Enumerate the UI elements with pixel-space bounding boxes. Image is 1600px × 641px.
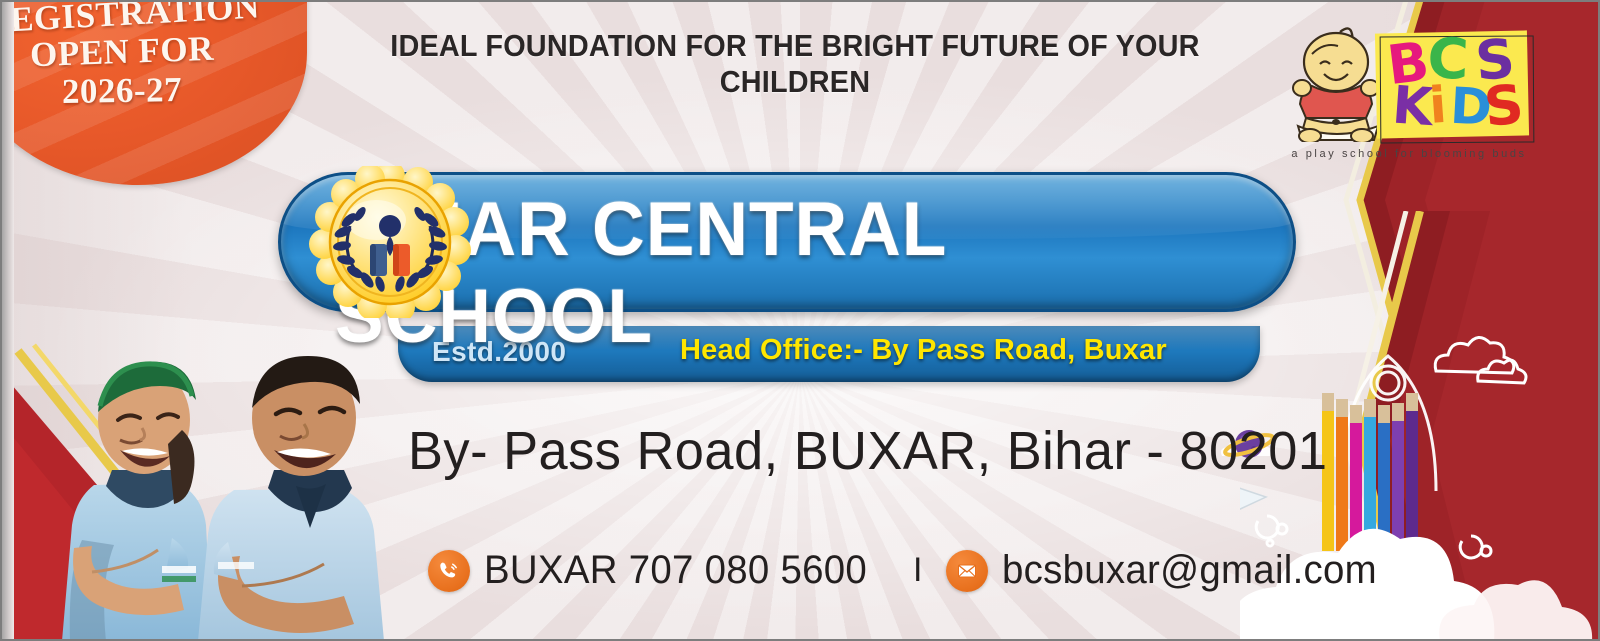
envelope-icon xyxy=(946,550,988,592)
email-address[interactable]: bcsbuxar@gmail.com xyxy=(1002,548,1377,593)
colored-pencils-icon xyxy=(1322,393,1418,551)
student-girl xyxy=(62,362,212,641)
registration-badge: REGISTRATION OPEN FOR 2026-27 xyxy=(0,0,307,185)
paper-plane-icon xyxy=(1240,487,1266,511)
logo-letter-i: i xyxy=(1428,80,1449,131)
address-line: By- Pass Road, BUXAR, Bihar - 80201 xyxy=(408,420,1327,482)
contact-separator: I xyxy=(913,551,922,590)
phone-icon xyxy=(428,550,470,592)
logo-letter-s2: S xyxy=(1482,77,1526,135)
student-boy xyxy=(198,356,384,641)
phone-number[interactable]: BUXAR 707 080 5600 xyxy=(484,548,867,593)
logo-letters: B C S K i D S xyxy=(1379,29,1535,144)
school-emblem-icon xyxy=(306,166,474,318)
bcs-kids-logo: B C S K i D S a play school for blooming… xyxy=(1284,16,1534,176)
registration-line-2: OPEN FOR xyxy=(0,29,283,77)
logo-tagline: a play school for blooming buds xyxy=(1284,148,1534,160)
banner-tagline: IDEAL FOUNDATION FOR THE BRIGHT FUTURE O… xyxy=(377,28,1214,100)
school-banner: REGISTRATION OPEN FOR 2026-27 IDEAL FOUN… xyxy=(0,0,1600,641)
cloud-small-icon xyxy=(1435,337,1526,383)
registration-line-3: 2026-27 xyxy=(0,70,282,112)
baby-icon xyxy=(1290,24,1386,142)
left-edge-strip xyxy=(0,0,14,641)
registration-text: REGISTRATION OPEN FOR 2026-27 xyxy=(0,0,282,109)
contact-row: BUXAR 707 080 5600 I bcsbuxar@gmail.com xyxy=(428,548,1393,593)
